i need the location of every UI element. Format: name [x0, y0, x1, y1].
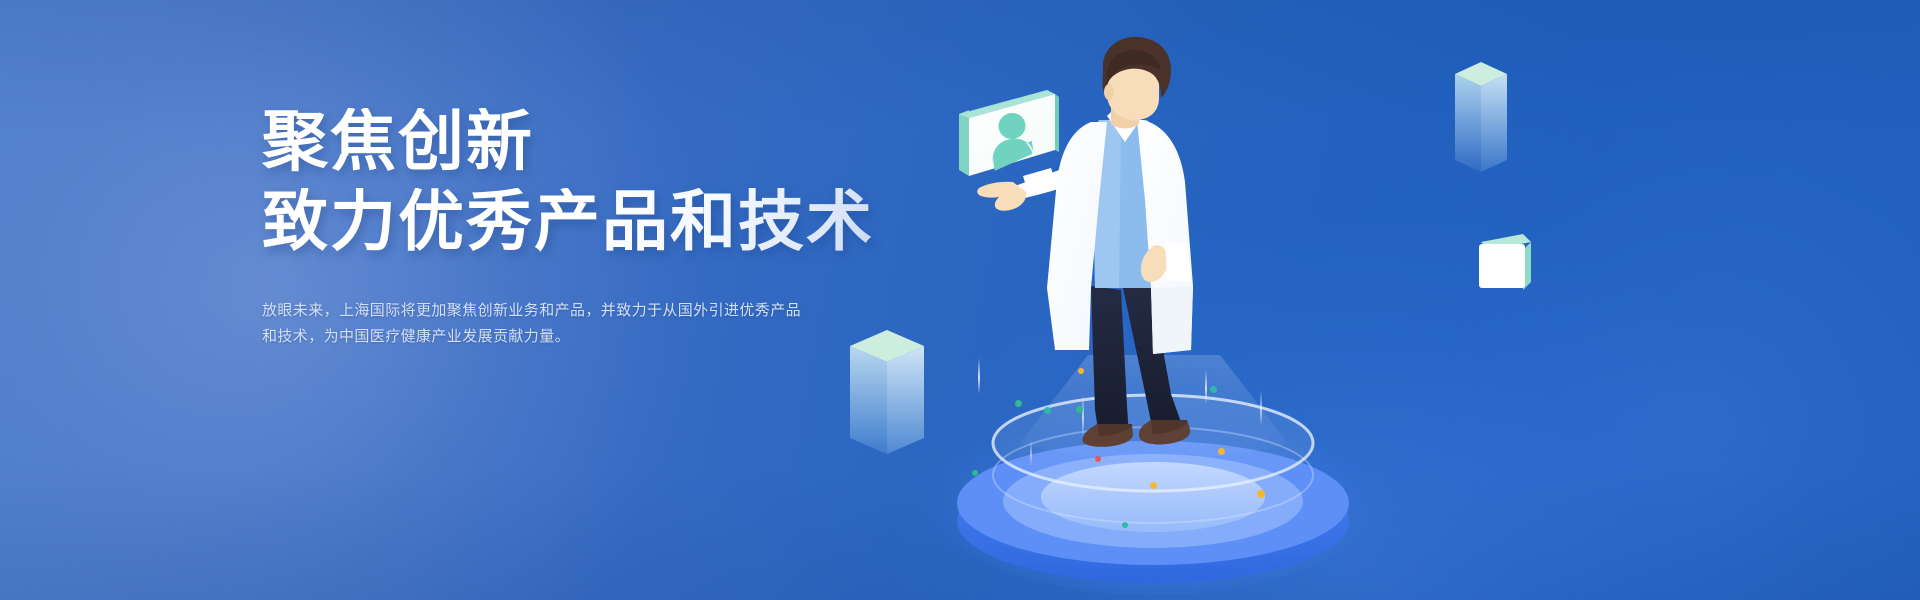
particle-dot — [972, 470, 978, 476]
hero-banner: 聚焦创新 致力优秀产品和技术 放眼未来，上海国际将更加聚焦创新业务和产品，并致力… — [0, 0, 1920, 600]
subtitle-line-2: 和技术，为中国医疗健康产业发展贡献力量。 — [262, 324, 852, 350]
light-streak — [1260, 390, 1262, 426]
subtitle-line-1: 放眼未来，上海国际将更加聚焦创新业务和产品，并致力于从国外引进优秀产品 — [262, 298, 852, 324]
doctor-illustration — [995, 50, 1255, 450]
light-streak — [978, 358, 980, 394]
particle-dot — [1122, 522, 1128, 528]
hero-illustration — [820, 0, 1920, 600]
banner-subtitle: 放眼未来，上海国际将更加聚焦创新业务和产品，并致力于从国外引进优秀产品 和技术，… — [262, 298, 852, 350]
floating-white-card — [1475, 232, 1547, 294]
particle-dot — [1150, 482, 1157, 489]
isometric-pillar-tall — [1450, 62, 1526, 187]
particle-dot — [1095, 456, 1101, 462]
particle-dot — [1257, 490, 1265, 498]
